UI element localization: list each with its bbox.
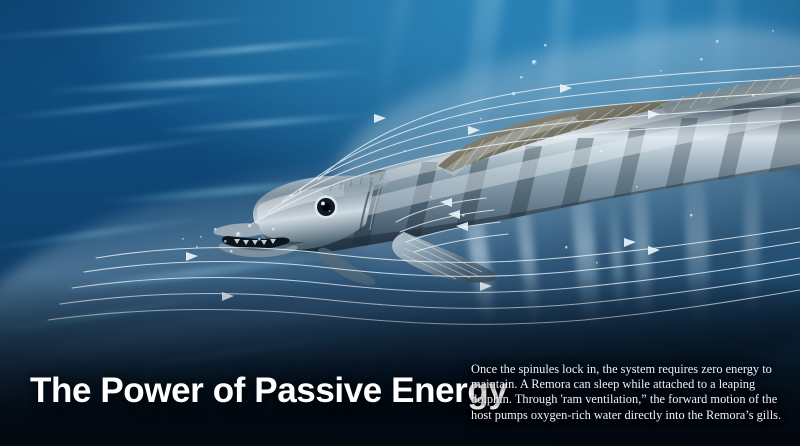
flow-arrowheads [186, 84, 660, 301]
page-title: The Power of Passive Energy [30, 372, 507, 410]
underwater-remora-illustration: The Power of Passive Energy Once the spi… [0, 0, 800, 446]
body-paragraph: Once the spinules lock in, the system re… [471, 362, 789, 423]
